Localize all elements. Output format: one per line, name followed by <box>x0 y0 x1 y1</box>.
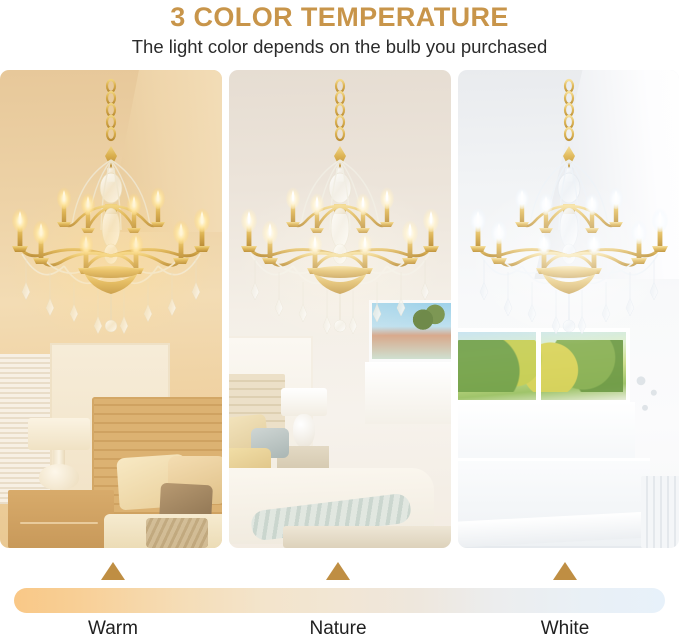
chandelier-icon <box>464 76 674 336</box>
panel-white-room <box>458 338 679 548</box>
radiator <box>641 476 679 548</box>
panel-warm-room <box>0 338 222 548</box>
lamp-base <box>39 464 79 490</box>
lower-wall <box>458 402 635 465</box>
page-subtitle: The light color depends on the bulb you … <box>0 35 679 59</box>
panel-white[interactable] <box>458 70 679 548</box>
nightstand <box>8 490 114 548</box>
panel-warm[interactable] <box>0 70 222 548</box>
marker-triangle-white <box>553 562 577 580</box>
color-temperature-gradient-bar <box>14 588 665 613</box>
header: 3 COLOR TEMPERATURE The light color depe… <box>0 0 679 59</box>
drawer-handle <box>20 522 98 524</box>
window-mullion <box>536 328 541 404</box>
lamp-shade <box>28 418 90 450</box>
window-sill <box>365 362 451 424</box>
marker-triangle-warm <box>101 562 125 580</box>
page-title: 3 COLOR TEMPERATURE <box>0 2 679 32</box>
color-temperature-panels <box>0 70 679 548</box>
bed-bench <box>283 526 451 548</box>
panel-nature[interactable] <box>229 70 451 548</box>
marker-triangle-nature <box>326 562 350 580</box>
lamp-shade <box>281 388 327 416</box>
throw-blanket <box>146 518 208 548</box>
lamp-base <box>293 414 315 448</box>
panel-nature-room <box>229 338 451 548</box>
decorative-branch <box>629 370 669 424</box>
chandelier-icon <box>6 76 216 336</box>
color-temperature-legend: Warm Nature White <box>0 552 679 637</box>
chandelier-icon <box>235 76 445 336</box>
